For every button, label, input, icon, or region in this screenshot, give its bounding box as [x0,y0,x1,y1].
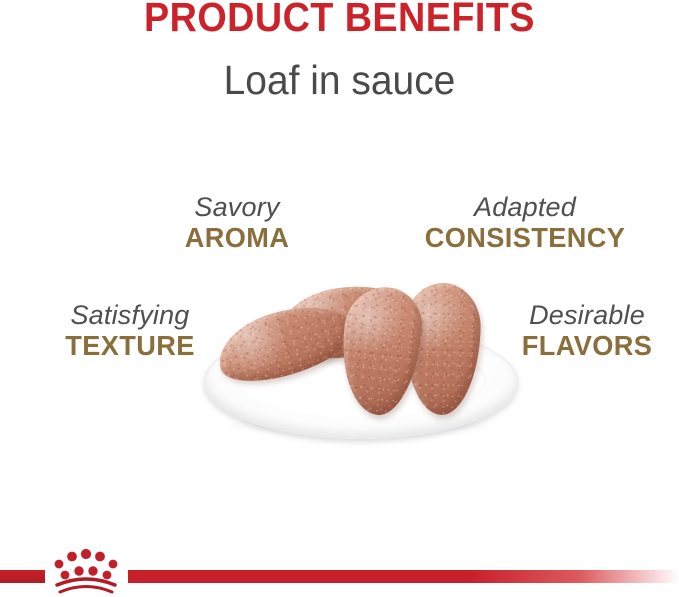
royal-canin-crown-icon [46,548,126,595]
page-title: PRODUCT BENEFITS [27,0,652,41]
benefit-consistency: Adapted CONSISTENCY [405,192,645,254]
brand-bar-right-segment [128,570,679,583]
benefit-consistency-label: CONSISTENCY [409,222,642,253]
benefit-aroma: Savory AROMA [137,192,337,254]
benefit-aroma-lead: Savory [137,192,337,222]
product-benefits-panel: PRODUCT BENEFITS Loaf in sauce Savory AR… [0,0,679,597]
benefit-consistency-lead: Adapted [405,192,645,222]
page-subtitle: Loaf in sauce [17,57,662,104]
benefit-aroma-label: AROMA [140,222,334,253]
product-food-image [190,265,530,440]
brand-bar-left-segment [0,570,45,583]
